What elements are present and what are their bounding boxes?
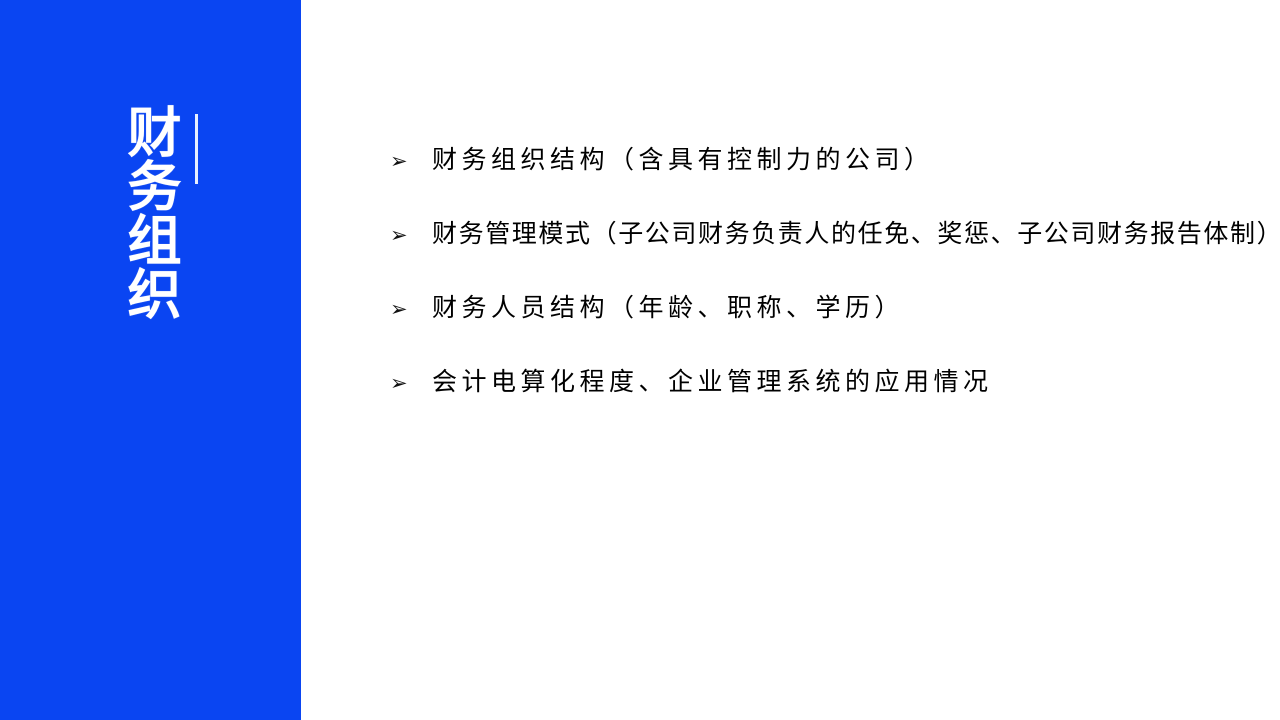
list-item-label: 财务管理模式（子公司财务负责人的任免、奖惩、子公司财务报告体制） [432,208,1280,262]
title-panel: 财务组织 [0,0,301,720]
arrow-bullet-icon: ➢ [390,282,416,336]
list-item: ➢会计电算化程度、企业管理系统的应用情况 [390,356,1280,410]
list-item: ➢财务人员结构（年龄、职称、学历） [390,282,1280,336]
list-item-label: 会计电算化程度、企业管理系统的应用情况 [432,356,1280,410]
arrow-bullet-icon: ➢ [390,134,416,188]
list-item: ➢财务组织结构（含具有控制力的公司） [390,134,1280,188]
content-area: ➢财务组织结构（含具有控制力的公司）➢财务管理模式（子公司财务负责人的任免、奖惩… [301,0,1280,720]
arrow-bullet-icon: ➢ [390,208,416,262]
slide: 财务组织 ➢财务组织结构（含具有控制力的公司）➢财务管理模式（子公司财务负责人的… [0,0,1280,720]
bullet-list: ➢财务组织结构（含具有控制力的公司）➢财务管理模式（子公司财务负责人的任免、奖惩… [350,134,1280,410]
arrow-bullet-icon: ➢ [390,356,416,410]
list-item-label: 财务组织结构（含具有控制力的公司） [432,134,1280,188]
list-item: ➢财务管理模式（子公司财务负责人的任免、奖惩、子公司财务报告体制） [390,208,1280,262]
title-accent-rule [195,114,198,184]
list-item-label: 财务人员结构（年龄、职称、学历） [432,282,1280,336]
page-title: 财务组织 [104,104,176,344]
